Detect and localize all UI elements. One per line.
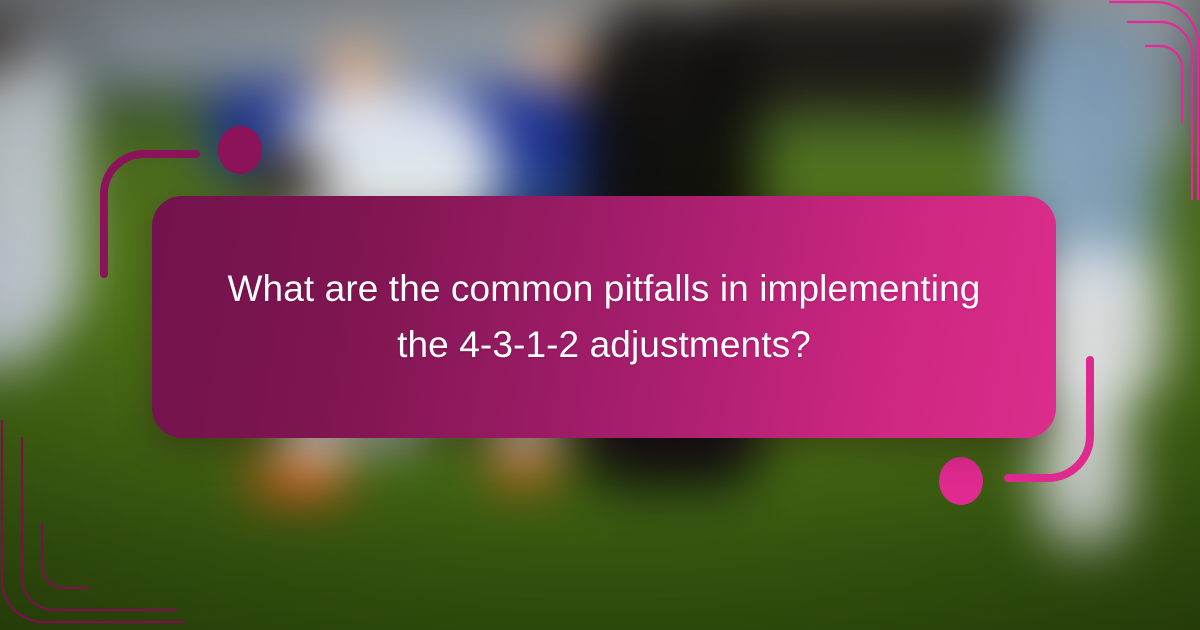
quote-text: What are the common pitfalls in implemen… <box>152 261 1056 373</box>
quote-card: What are the common pitfalls in implemen… <box>152 196 1056 438</box>
social-quote-card-image: What are the common pitfalls in implemen… <box>0 0 1200 630</box>
